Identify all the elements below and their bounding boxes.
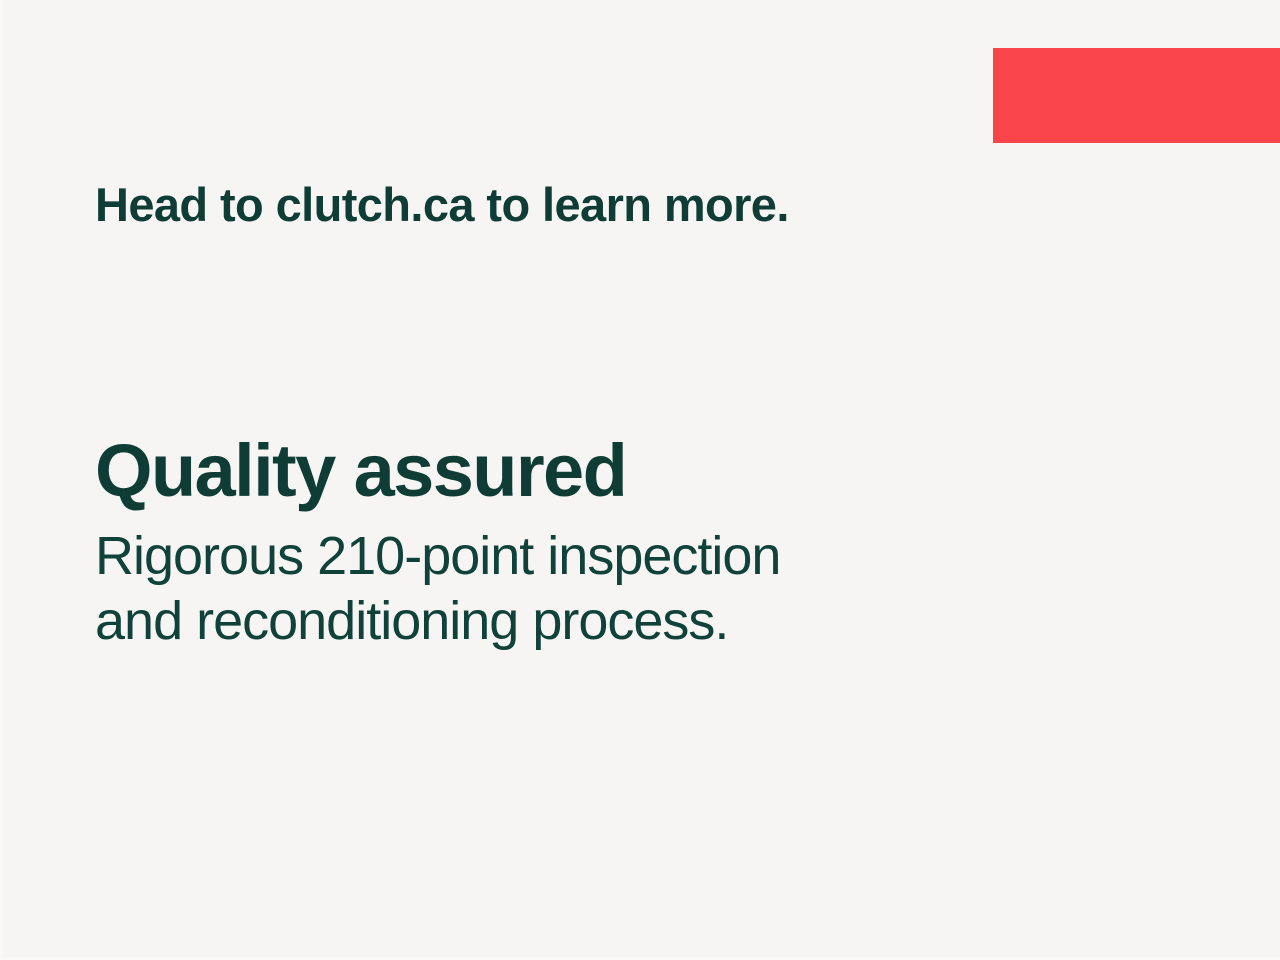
feature-body-line-1: Rigorous 210-point inspection <box>95 524 1045 589</box>
feature-body-line-2: and reconditioning process. <box>95 589 1045 654</box>
slide-canvas: clutch Head to clutch.ca to learn more. … <box>0 0 1280 960</box>
clutch-logo-block[interactable]: clutch <box>993 48 1280 143</box>
lead-line: Head to clutch.ca to learn more. <box>95 179 789 231</box>
clutch-wordmark-label: clutch <box>1026 48 1027 49</box>
feature-title: Quality assured <box>95 432 1045 510</box>
feature-block: Quality assured Rigorous 210-point inspe… <box>95 432 1045 654</box>
feature-body: Rigorous 210-point inspection and recond… <box>95 524 1045 654</box>
